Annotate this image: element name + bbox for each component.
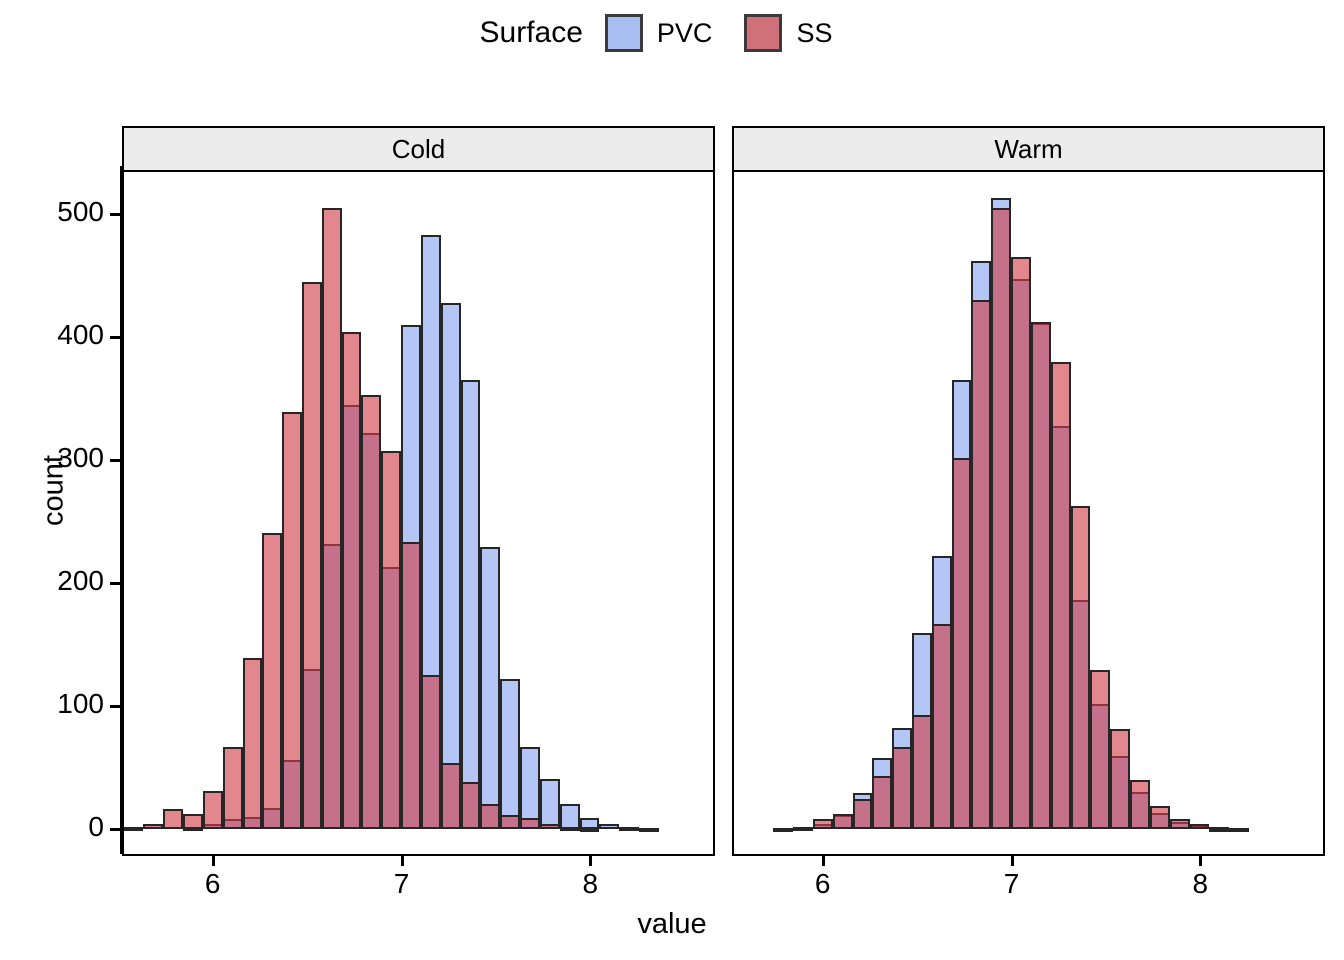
x-axis-tick — [589, 856, 592, 866]
x-axis-tick — [1199, 856, 1202, 866]
facet-strip-warm: Warm — [732, 126, 1325, 172]
histogram-bar — [322, 208, 342, 829]
y-axis-tick-label: 300 — [57, 442, 104, 474]
y-axis-tick — [110, 336, 120, 339]
histogram-bar — [1130, 780, 1150, 829]
histogram-bar — [143, 824, 163, 829]
panel-bars — [124, 172, 713, 854]
histogram-bar — [619, 827, 639, 831]
histogram-bar — [793, 827, 813, 831]
histogram-bar — [500, 815, 520, 829]
histogram-bar — [1150, 806, 1170, 829]
y-axis-tick-label: 0 — [88, 811, 104, 843]
histogram-bar — [773, 828, 793, 832]
histogram-bar — [952, 458, 972, 829]
histogram-bar — [1090, 670, 1110, 829]
histogram-bar — [540, 824, 560, 829]
histogram-bar — [421, 675, 441, 829]
histogram-bar — [520, 747, 540, 829]
histogram-bar — [243, 658, 263, 829]
panel-cold — [122, 172, 715, 854]
y-axis-tick — [110, 582, 120, 585]
x-axis-tick-label: 6 — [803, 868, 843, 900]
facet-strip-label: Cold — [392, 134, 445, 165]
histogram-bar — [461, 380, 481, 829]
x-axis-tick — [822, 856, 825, 866]
x-axis-tick-label: 7 — [992, 868, 1032, 900]
histogram-bar — [580, 828, 600, 832]
x-axis-tick — [401, 856, 404, 866]
histogram-bar — [124, 827, 144, 831]
x-axis-tick-label: 8 — [1180, 868, 1220, 900]
y-axis-tick — [110, 213, 120, 216]
histogram-bar — [599, 824, 619, 829]
panel-warm — [732, 172, 1325, 854]
histogram-bar — [401, 542, 421, 829]
histogram-bar — [639, 828, 659, 832]
histogram-bar — [932, 624, 952, 829]
histogram-bar — [1209, 827, 1229, 831]
histogram-bar — [262, 533, 282, 829]
histogram-bar — [540, 779, 560, 829]
histogram-bar — [853, 799, 873, 829]
histogram-bar — [991, 208, 1011, 829]
histogram-bar — [1190, 824, 1210, 829]
y-axis-tick-label: 400 — [57, 319, 104, 351]
histogram-bar — [461, 782, 481, 829]
histogram-bar — [441, 303, 461, 829]
histogram-bar — [500, 679, 520, 829]
y-axis-tick-label: 500 — [57, 196, 104, 228]
histogram-bar — [1051, 362, 1071, 829]
histogram-bar — [441, 763, 461, 829]
histogram-bar — [872, 776, 892, 829]
y-axis-tick — [110, 459, 120, 462]
histogram-bar — [361, 395, 381, 829]
histogram-bar — [1170, 819, 1190, 829]
histogram-bar — [381, 451, 401, 829]
x-axis-tick-label: 6 — [193, 868, 233, 900]
histogram-bar — [1071, 506, 1091, 829]
histogram-bar — [163, 809, 183, 829]
facet-strip-cold: Cold — [122, 126, 715, 172]
histogram-bar — [302, 282, 322, 829]
histogram-bar — [282, 412, 302, 829]
histogram-bar — [1011, 257, 1031, 829]
facet-strip-label: Warm — [994, 134, 1062, 165]
y-axis-tick — [110, 828, 120, 831]
histogram-bar — [183, 814, 203, 829]
histogram-bar — [560, 804, 580, 829]
x-axis-tick-label: 8 — [570, 868, 610, 900]
plot-area: count value 0100200300400500 678678 Cold… — [0, 0, 1344, 960]
y-axis-tick-label: 100 — [57, 688, 104, 720]
histogram-bar — [560, 827, 580, 831]
histogram-bar — [1110, 729, 1130, 829]
histogram-bar — [1031, 322, 1051, 829]
x-axis-tick-label: 7 — [382, 868, 422, 900]
histogram-bar — [342, 332, 362, 829]
histogram-bar — [520, 818, 540, 829]
panel-bars — [734, 172, 1323, 854]
histogram-bar — [912, 715, 932, 829]
x-axis-tick — [212, 856, 215, 866]
y-axis-tick-label: 200 — [57, 565, 104, 597]
histogram-bar — [971, 300, 991, 829]
histogram-bar — [480, 804, 500, 829]
chart-root: Surface PVC SS count value 0100200300400… — [0, 0, 1344, 960]
histogram-bar — [833, 814, 853, 829]
x-axis-title: value — [0, 908, 1344, 941]
y-axis-tick — [110, 705, 120, 708]
histogram-bar — [813, 819, 833, 829]
histogram-bar — [892, 747, 912, 829]
x-axis-tick — [1011, 856, 1014, 866]
histogram-bar — [223, 747, 243, 829]
histogram-bar — [203, 791, 223, 829]
histogram-bar — [1229, 828, 1249, 832]
histogram-bar — [480, 547, 500, 829]
